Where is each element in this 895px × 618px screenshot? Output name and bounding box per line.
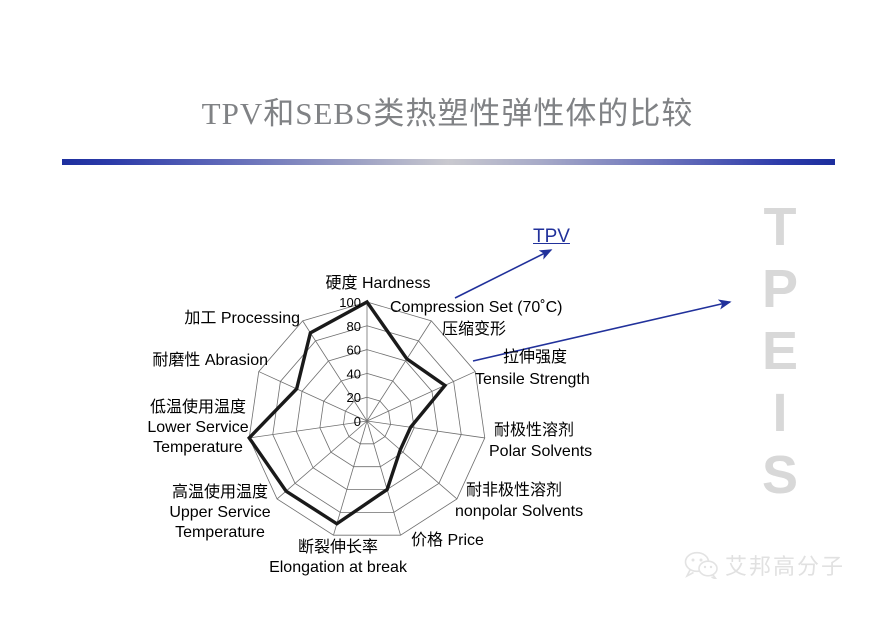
axis-label-upper-en1: Upper Service: [140, 503, 300, 522]
tpv-callout-label[interactable]: TPV: [533, 226, 570, 248]
radar-spoke: [367, 421, 485, 438]
axis-label-lower-en2: Temperature: [118, 438, 278, 457]
wechat-icon: [684, 551, 718, 579]
axis-label-compression-en: Compression Set (70˚C): [390, 298, 563, 317]
axis-label-nonpolar-en: nonpolar Solvents: [455, 502, 583, 521]
axis-label-processing: 加工 Processing: [120, 309, 300, 328]
slide-canvas: TPV和SEBS类热塑性弹性体的比较 T P E I S 02040608010…: [0, 0, 895, 618]
radar-tick-label: 80: [347, 319, 361, 334]
axis-label-tensile-cn: 拉伸强度: [503, 348, 567, 367]
radar-spoke: [333, 421, 367, 535]
axis-label-hardness: 硬度 Hardness: [298, 274, 458, 293]
axis-label-lower-cn: 低温使用温度: [118, 398, 278, 417]
radar-tick-label: 40: [347, 366, 361, 381]
axis-label-price: 价格 Price: [411, 531, 484, 550]
radar-tick-label: 20: [347, 390, 361, 405]
axis-label-abrasion: 耐磨性 Abrasion: [90, 351, 268, 370]
brand-name: 艾邦高分子: [725, 549, 845, 581]
axis-label-tensile-en: Tensile Strength: [475, 370, 590, 389]
brand-logo: 艾邦高分子: [684, 549, 845, 581]
axis-label-compression-cn: 压缩变形: [442, 320, 506, 339]
axis-label-nonpolar-cn: 耐非极性溶剂: [466, 481, 562, 500]
radar-tick-label: 0: [354, 414, 361, 429]
axis-label-upper-en2: Temperature: [140, 523, 300, 542]
arrow-to-tpv: [455, 250, 551, 298]
axis-label-lower-en1: Lower Service: [118, 418, 278, 437]
axis-label-polar-cn: 耐极性溶剂: [494, 421, 574, 440]
axis-label-elongation-en: Elongation at break: [238, 558, 438, 577]
radar-tick-label: 100: [339, 295, 361, 310]
radar-spoke: [367, 421, 401, 535]
radar-tick-label: 60: [347, 343, 361, 358]
axis-label-polar-en: Polar Solvents: [489, 442, 592, 461]
axis-label-upper-cn: 高温使用温度: [140, 483, 300, 502]
